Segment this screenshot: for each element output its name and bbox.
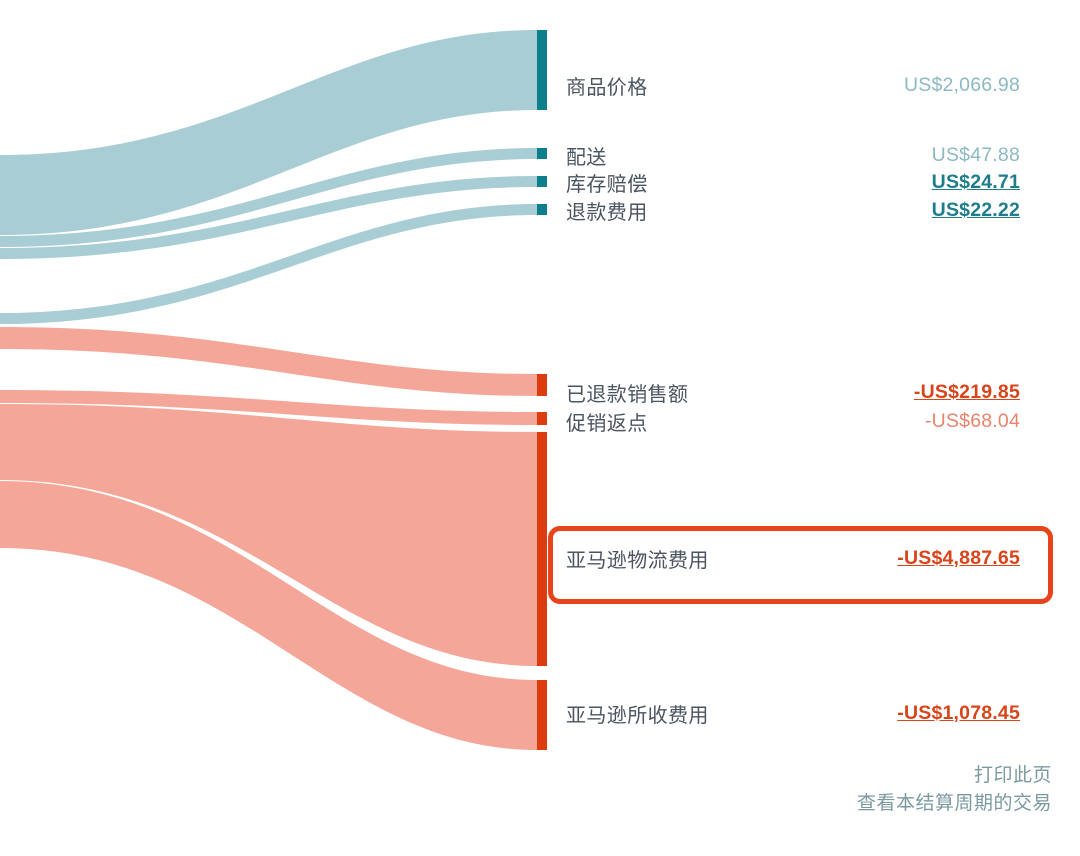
node-value-inventory-compensation[interactable]: US$24.71 [932, 171, 1020, 194]
node-label-refunded-sales: 已退款销售额 [566, 378, 688, 407]
sankey-node-bar-refund-fee [537, 204, 547, 215]
sankey-node-bar-refunded-sales [537, 374, 547, 396]
footer-link-print-page[interactable]: 打印此页 [857, 762, 1052, 790]
sankey-node-bar-product-price [537, 30, 547, 110]
sankey-row-refunded-sales: 已退款销售额-US$219.85 [566, 377, 1020, 407]
highlight-box-fba-logistics-fee [548, 526, 1053, 604]
node-label-product-price: 商品价格 [566, 71, 648, 100]
sankey-row-inventory-compensation: 库存赔偿US$24.71 [566, 167, 1020, 197]
sankey-node-bar-shipping [537, 148, 547, 159]
sankey-flow-refunded-sales [0, 327, 537, 396]
sankey-row-product-price: 商品价格US$2,066.98 [566, 70, 1020, 100]
node-label-inventory-compensation: 库存赔偿 [566, 168, 648, 197]
node-label-shipping: 配送 [566, 141, 607, 170]
footer-links: 打印此页 查看本结算周期的交易 [857, 762, 1052, 817]
sankey-node-bar-fba-logistics-fee [537, 432, 547, 666]
sankey-chart-canvas: 商品价格US$2,066.98配送US$47.88库存赔偿US$24.71退款费… [0, 0, 1080, 856]
node-label-refund-fee: 退款费用 [566, 196, 648, 225]
node-value-refunded-sales[interactable]: -US$219.85 [914, 381, 1020, 404]
footer-link-view-cycle-transactions[interactable]: 查看本结算周期的交易 [857, 790, 1052, 818]
node-label-amazon-charged-fee: 亚马逊所收费用 [566, 699, 709, 728]
node-value-promotion-rebate: -US$68.04 [925, 410, 1020, 433]
sankey-row-shipping: 配送US$47.88 [566, 140, 1020, 170]
node-value-amazon-charged-fee[interactable]: -US$1,078.45 [897, 702, 1020, 725]
sankey-node-bar-promotion-rebate [537, 412, 547, 425]
sankey-row-promotion-rebate: 促销返点-US$68.04 [566, 406, 1020, 436]
sankey-row-refund-fee: 退款费用US$22.22 [566, 195, 1020, 225]
node-value-shipping: US$47.88 [932, 144, 1020, 167]
node-value-product-price: US$2,066.98 [904, 74, 1020, 97]
sankey-node-bar-inventory-compensation [537, 176, 547, 187]
node-label-promotion-rebate: 促销返点 [566, 407, 648, 436]
node-value-refund-fee[interactable]: US$22.22 [932, 199, 1020, 222]
sankey-node-bar-amazon-charged-fee [537, 680, 547, 750]
sankey-row-amazon-charged-fee: 亚马逊所收费用-US$1,078.45 [566, 698, 1020, 728]
